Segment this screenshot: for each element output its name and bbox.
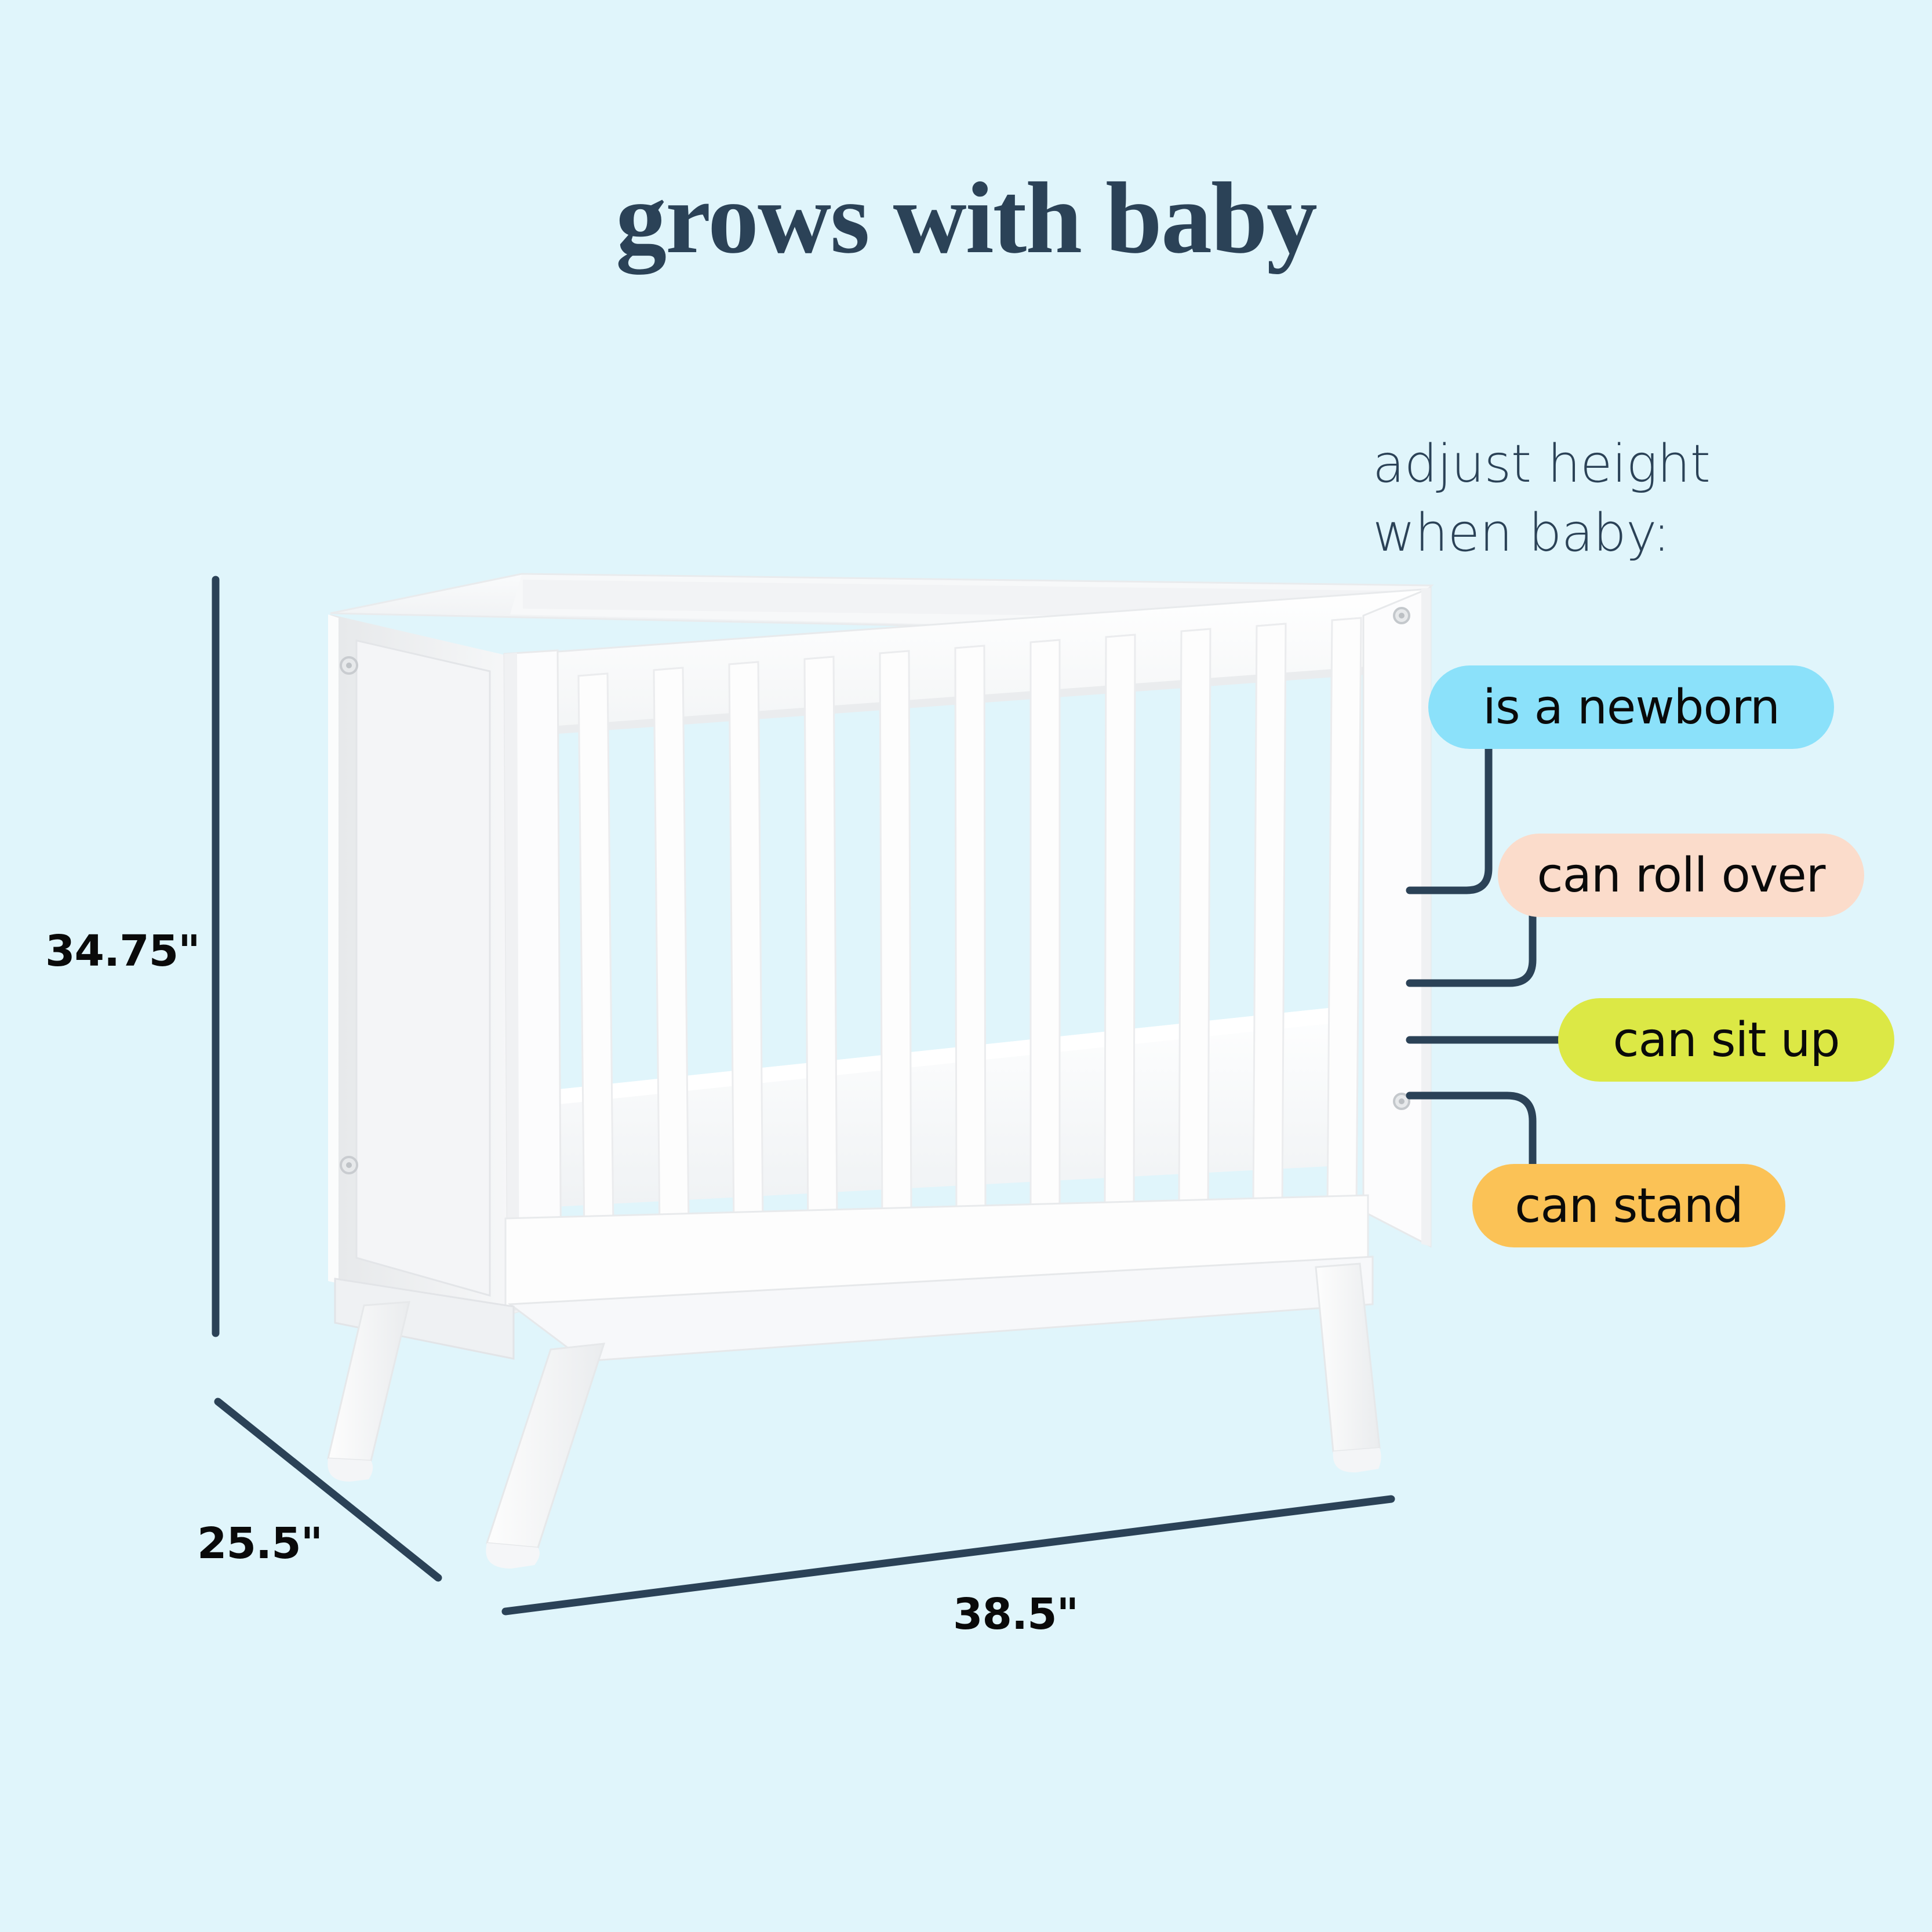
adjust-heading-line-1: adjust height bbox=[1373, 430, 1894, 499]
adjust-height-heading: adjust height when baby: bbox=[1373, 430, 1894, 568]
width-dimension-label: 38.5" bbox=[953, 1589, 1078, 1639]
pill-is-a-newborn[interactable]: is a newborn bbox=[1428, 665, 1834, 749]
crib-left-corner-post bbox=[504, 650, 561, 1315]
infographic-canvas: grows with baby bbox=[0, 0, 1932, 1932]
crib-right-end-panel bbox=[1363, 588, 1431, 1246]
pill-can-roll-over[interactable]: can roll over bbox=[1498, 834, 1864, 917]
crib-illustration bbox=[0, 0, 1932, 1932]
height-dimension-label: 34.75" bbox=[45, 926, 200, 976]
pill-can-stand[interactable]: can stand bbox=[1472, 1164, 1785, 1247]
pill-can-sit-up[interactable]: can sit up bbox=[1558, 998, 1894, 1082]
adjust-heading-line-2: when baby: bbox=[1373, 499, 1894, 568]
depth-dimension-label: 25.5" bbox=[197, 1519, 322, 1569]
crib-left-end-panel bbox=[328, 614, 510, 1327]
